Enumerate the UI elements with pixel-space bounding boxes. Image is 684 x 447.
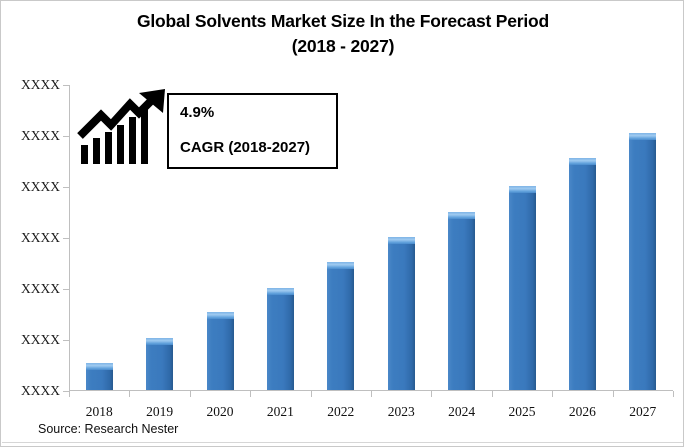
y-axis-label: XXXX bbox=[21, 281, 60, 297]
y-axis-line bbox=[69, 85, 70, 391]
cagr-callout-box: 4.9% CAGR (2018-2027) bbox=[167, 93, 338, 169]
x-axis-label: 2027 bbox=[629, 404, 656, 420]
bar-cap bbox=[207, 312, 234, 319]
y-axis-tick bbox=[63, 340, 69, 341]
y-axis-label: XXXX bbox=[21, 230, 60, 246]
footer-divider bbox=[2, 442, 684, 443]
bar-cap bbox=[569, 158, 596, 165]
y-axis-label: XXXX bbox=[21, 179, 60, 195]
y-axis-tick bbox=[63, 187, 69, 188]
bar-2024[interactable] bbox=[448, 212, 475, 391]
x-axis-tick bbox=[673, 391, 674, 397]
growth-arrow-bar-icon bbox=[77, 87, 169, 165]
x-axis-tick bbox=[190, 391, 191, 397]
y-axis-tick bbox=[63, 238, 69, 239]
x-axis-label: 2025 bbox=[509, 404, 536, 420]
source-label: Source: Research Nester bbox=[38, 422, 178, 436]
bar-cap bbox=[86, 363, 113, 370]
cagr-period: CAGR (2018-2027) bbox=[180, 139, 310, 156]
y-axis-tick bbox=[63, 136, 69, 137]
bar-2026[interactable] bbox=[569, 158, 596, 390]
bar-cap bbox=[327, 262, 354, 269]
bar-2019[interactable] bbox=[146, 338, 173, 390]
chart-figure: Global Solvents Market Size In the Forec… bbox=[0, 0, 684, 447]
y-axis-tick bbox=[63, 289, 69, 290]
y-axis-tick bbox=[63, 85, 69, 86]
x-axis-tick bbox=[613, 391, 614, 397]
bar-2018[interactable] bbox=[86, 363, 113, 390]
bar-2027[interactable] bbox=[629, 133, 656, 390]
x-axis-label: 2026 bbox=[569, 404, 596, 420]
x-axis-tick bbox=[431, 391, 432, 397]
x-axis-label: 2020 bbox=[207, 404, 234, 420]
x-axis-label: 2024 bbox=[448, 404, 475, 420]
bar-2021[interactable] bbox=[267, 288, 294, 391]
x-axis-tick bbox=[492, 391, 493, 397]
bar-cap bbox=[629, 133, 656, 140]
y-axis-label: XXXX bbox=[21, 383, 60, 399]
y-axis-label: XXXX bbox=[21, 77, 60, 93]
bar-cap bbox=[267, 288, 294, 295]
cagr-value: 4.9% bbox=[180, 104, 214, 121]
x-axis-label: 2018 bbox=[86, 404, 113, 420]
x-axis-label: 2022 bbox=[327, 404, 354, 420]
x-axis-tick bbox=[552, 391, 553, 397]
x-axis-tick bbox=[250, 391, 251, 397]
x-axis-label: 2023 bbox=[388, 404, 415, 420]
bar-2020[interactable] bbox=[207, 312, 234, 390]
bar-cap bbox=[509, 186, 536, 193]
x-axis-tick bbox=[129, 391, 130, 397]
bar-2025[interactable] bbox=[509, 186, 536, 390]
bar-2022[interactable] bbox=[327, 262, 354, 390]
x-axis-label: 2021 bbox=[267, 404, 294, 420]
bar-cap bbox=[146, 338, 173, 345]
bar-2023[interactable] bbox=[388, 237, 415, 390]
chart-title: Global Solvents Market Size In the Forec… bbox=[1, 9, 684, 59]
chart-title-line-2: (2018 - 2027) bbox=[1, 34, 684, 59]
x-axis-tick bbox=[371, 391, 372, 397]
bar-cap bbox=[448, 212, 475, 219]
bar-cap bbox=[388, 237, 415, 244]
x-axis-label: 2019 bbox=[146, 404, 173, 420]
x-axis-tick bbox=[69, 391, 70, 397]
y-axis-label: XXXX bbox=[21, 128, 60, 144]
chart-title-line-1: Global Solvents Market Size In the Forec… bbox=[1, 9, 684, 34]
y-axis-label: XXXX bbox=[21, 332, 60, 348]
x-axis-tick bbox=[311, 391, 312, 397]
